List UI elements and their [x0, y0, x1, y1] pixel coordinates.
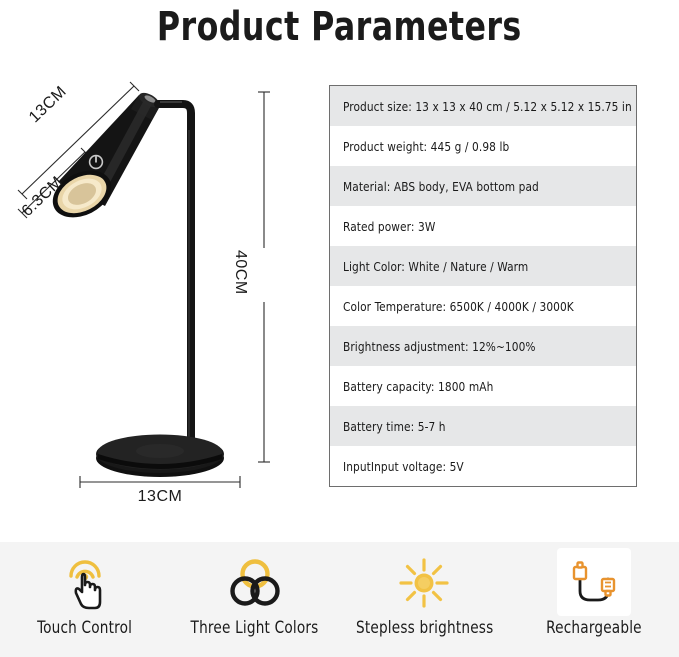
spec-text: Battery capacity: 1800 mAh	[343, 379, 493, 394]
dimension-label-total-height: 40CM	[231, 250, 249, 295]
spec-text: Rated power: 3W	[343, 219, 435, 234]
lamp-base	[96, 435, 224, 478]
spec-text: InputInput voltage: 5V	[343, 459, 464, 474]
feature-label: Three Light Colors	[191, 618, 319, 637]
page-title: Product Parameters	[157, 4, 522, 50]
feature-three-light-colors: Three Light Colors	[170, 542, 340, 657]
spec-text: Battery time: 5-7 h	[343, 419, 446, 434]
table-row: Color Temperature: 6500K / 4000K / 3000K	[330, 286, 636, 326]
desk-lamp-drawing	[0, 70, 320, 500]
dimension-base-diameter	[80, 476, 240, 488]
touch-hand-icon	[57, 554, 113, 612]
table-row: Rated power: 3W	[330, 206, 636, 246]
feature-label: Rechargeable	[546, 618, 642, 637]
spec-table-rows: Product size: 13 x 13 x 40 cm / 5.12 x 5…	[330, 86, 636, 486]
spec-text: Light Color: White / Nature / Warm	[343, 259, 528, 274]
table-row: Battery capacity: 1800 mAh	[330, 366, 636, 406]
table-row: Material: ABS body, EVA bottom pad	[330, 166, 636, 206]
spec-text: Color Temperature: 6500K / 4000K / 3000K	[343, 299, 574, 314]
spec-text: Material: ABS body, EVA bottom pad	[343, 179, 539, 194]
feature-band: Touch Control Three Light Colors	[0, 542, 679, 657]
dimension-label-base-diameter: 13CM	[0, 488, 320, 506]
three-circles-icon	[226, 554, 284, 612]
table-row: Light Color: White / Nature / Warm	[330, 246, 636, 286]
spec-text: Product size: 13 x 13 x 40 cm / 5.12 x 5…	[343, 99, 632, 114]
feature-label: Stepless brightness	[356, 618, 493, 637]
feature-stepless-brightness: Stepless brightness	[340, 542, 510, 657]
table-row: Battery time: 5-7 h	[330, 406, 636, 446]
table-row: Product weight: 445 g / 0.98 lb	[330, 126, 636, 166]
page-title-container: Product Parameters	[0, 4, 679, 50]
table-row: InputInput voltage: 5V	[330, 446, 636, 486]
feature-touch-control: Touch Control	[0, 542, 170, 657]
product-illustration: 13CM 6.3CM 40CM 13CM	[0, 70, 320, 500]
feature-rechargeable: Rechargeable	[509, 542, 679, 657]
usb-cable-icon	[563, 554, 625, 612]
feature-label: Touch Control	[37, 618, 132, 637]
table-row: Product size: 13 x 13 x 40 cm / 5.12 x 5…	[330, 86, 636, 126]
spec-text: Product weight: 445 g / 0.98 lb	[343, 139, 509, 154]
spec-text: Brightness adjustment: 12%~100%	[343, 339, 536, 354]
lamp-arm	[158, 102, 191, 468]
spec-table: Product size: 13 x 13 x 40 cm / 5.12 x 5…	[329, 85, 637, 487]
table-row: Brightness adjustment: 12%~100%	[330, 326, 636, 366]
sun-icon	[396, 554, 452, 612]
